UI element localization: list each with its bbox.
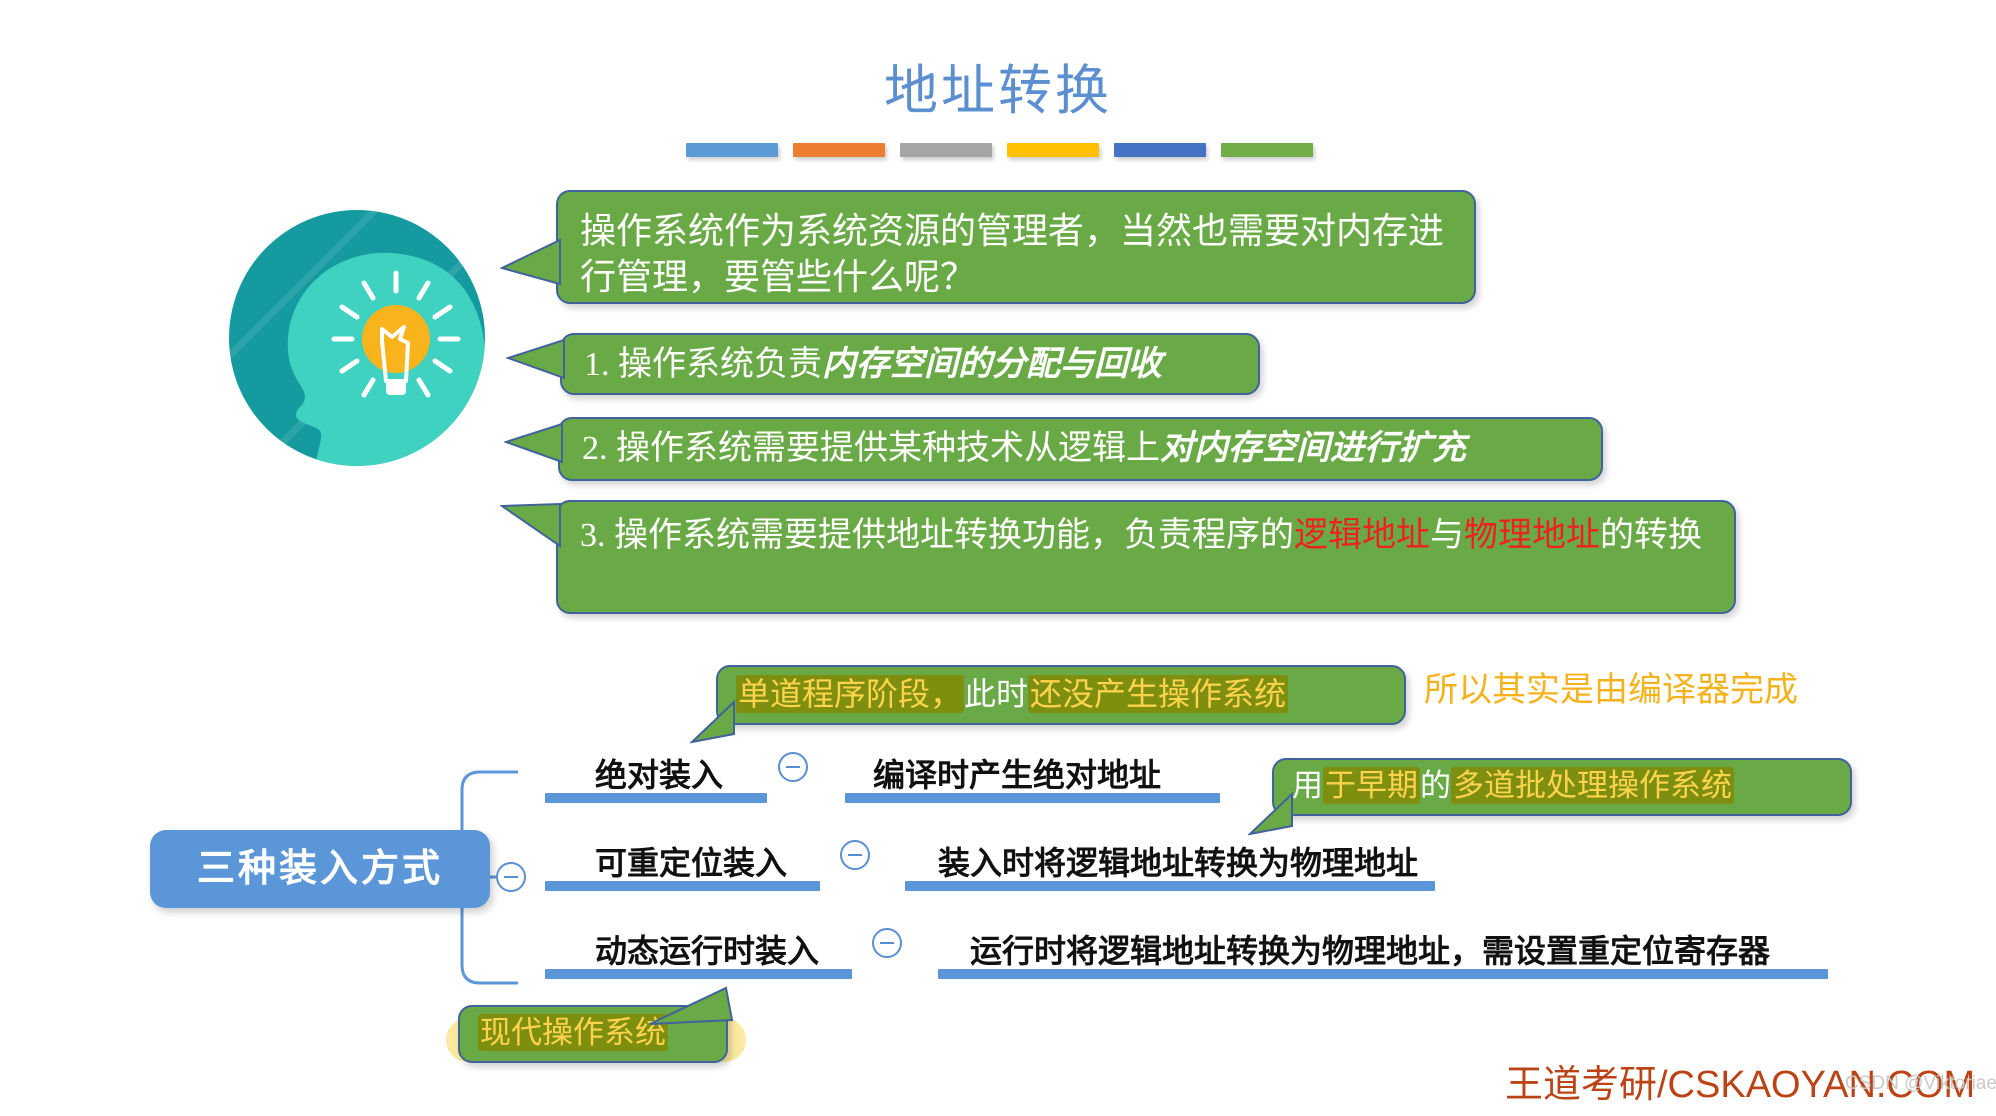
mindmap-branch-label-3[interactable]: 动态运行时装入 [595,926,819,972]
point3-prefix: 3. 操作系统需要提供地址转换功能，负责程序的 [580,517,1294,554]
callout-point-3: 3. 操作系统需要提供地址转换功能，负责程序的逻辑地址与物理地址的转换 [556,500,1736,614]
callout-batch-os-tail [1248,792,1298,838]
slide-canvas: 地址转换 [0,0,1996,1116]
callout-single-program-text: 单道程序阶段，此时还没产生操作系统 [718,667,1404,715]
point2-prefix: 2. 操作系统需要提供某种技术从逻辑上 [582,430,1160,467]
callout-point-3-tail [500,502,570,557]
callout-batch-os-text: 用于早期的多道批处理操作系统 [1274,760,1850,806]
head-lightbulb-icon [222,203,492,473]
point3-suffix: 的转换 [1600,517,1702,554]
callout-intro-text: 操作系统作为系统资源的管理者，当然也需要对内存进行管理，要管些什么呢？ [558,192,1474,312]
point3-red-2: 物理地址 [1464,517,1600,554]
callout-point-1-text: 1. 操作系统负责内存空间的分配与回收 [562,335,1258,399]
mindmap-underline-1a [545,793,767,803]
mindmap-underline-2a [545,881,820,891]
callout-single-program: 单道程序阶段，此时还没产生操作系统 [716,665,1406,725]
point1-emphasis: 内存空间的分配与回收 [822,346,1162,383]
note-batch-d: 多道批处理操作系统 [1451,767,1734,804]
mindmap-branch-desc-3[interactable]: 运行时将逻辑地址转换为物理地址，需设置重定位寄存器 [970,926,1770,972]
title-bar-2 [793,143,885,157]
callout-batch-os: 用于早期的多道批处理操作系统 [1272,758,1852,816]
page-title: 地址转换 [0,46,1996,125]
title-decoration-bars [686,143,1313,157]
minus-circle-icon-branch-1[interactable] [778,752,808,782]
mindmap-underline-3b [938,969,1828,979]
mindmap-underline-1b [845,793,1220,803]
callout-single-program-tail [690,700,740,746]
csdn-watermark: CSDN @Viktoriae [1845,1073,1996,1095]
title-bar-6 [1221,143,1313,157]
minus-circle-icon-root[interactable] [496,862,526,892]
callout-point-1-tail [506,338,576,388]
note-single-a: 单道程序阶段， [736,675,964,713]
callout-intro: 操作系统作为系统资源的管理者，当然也需要对内存进行管理，要管些什么呢？ [556,190,1476,304]
note-single-b: 此时 [964,676,1028,712]
note-single-c: 还没产生操作系统 [1028,675,1288,713]
callout-modern-os-tail [646,986,736,1038]
mindmap-underline-2b [905,881,1435,891]
point1-prefix: 1. 操作系统负责 [584,346,822,383]
title-bar-1 [686,143,778,157]
callout-point-2-text: 2. 操作系统需要提供某种技术从逻辑上对内存空间进行扩充 [560,419,1601,483]
callout-point-1: 1. 操作系统负责内存空间的分配与回收 [560,333,1260,395]
minus-circle-icon-branch-2[interactable] [840,840,870,870]
mindmap-branch-desc-1[interactable]: 编译时产生绝对地址 [873,750,1161,796]
mindmap-branch-label-1[interactable]: 绝对装入 [595,750,723,796]
callout-point-3-text: 3. 操作系统需要提供地址转换功能，负责程序的逻辑地址与物理地址的转换 [558,502,1734,570]
callout-point-2: 2. 操作系统需要提供某种技术从逻辑上对内存空间进行扩充 [558,417,1603,481]
minus-circle-icon-branch-3[interactable] [872,928,902,958]
note-batch-b: 于早期 [1323,767,1420,804]
note-batch-c: 的 [1420,768,1451,803]
title-bar-3 [900,143,992,157]
mindmap-root-node[interactable]: 三种装入方式 [150,830,490,908]
note-modern: 现代操作系统 [478,1014,668,1051]
mindmap-branch-desc-2[interactable]: 装入时将逻辑地址转换为物理地址 [938,838,1418,884]
note-compiler-text: 所以其实是由编译器完成 [1424,662,1798,711]
callout-intro-tail [500,238,570,298]
mindmap-branch-label-2[interactable]: 可重定位装入 [595,838,787,884]
point3-red-1: 逻辑地址 [1294,517,1430,554]
title-bar-4 [1007,143,1099,157]
point2-emphasis: 对内存空间进行扩充 [1160,430,1466,467]
callout-point-2-tail [504,422,574,472]
mindmap-underline-3a [545,969,852,979]
title-bar-5 [1114,143,1206,157]
point3-mid: 与 [1430,517,1464,554]
mindmap-root-label: 三种装入方式 [150,830,490,908]
